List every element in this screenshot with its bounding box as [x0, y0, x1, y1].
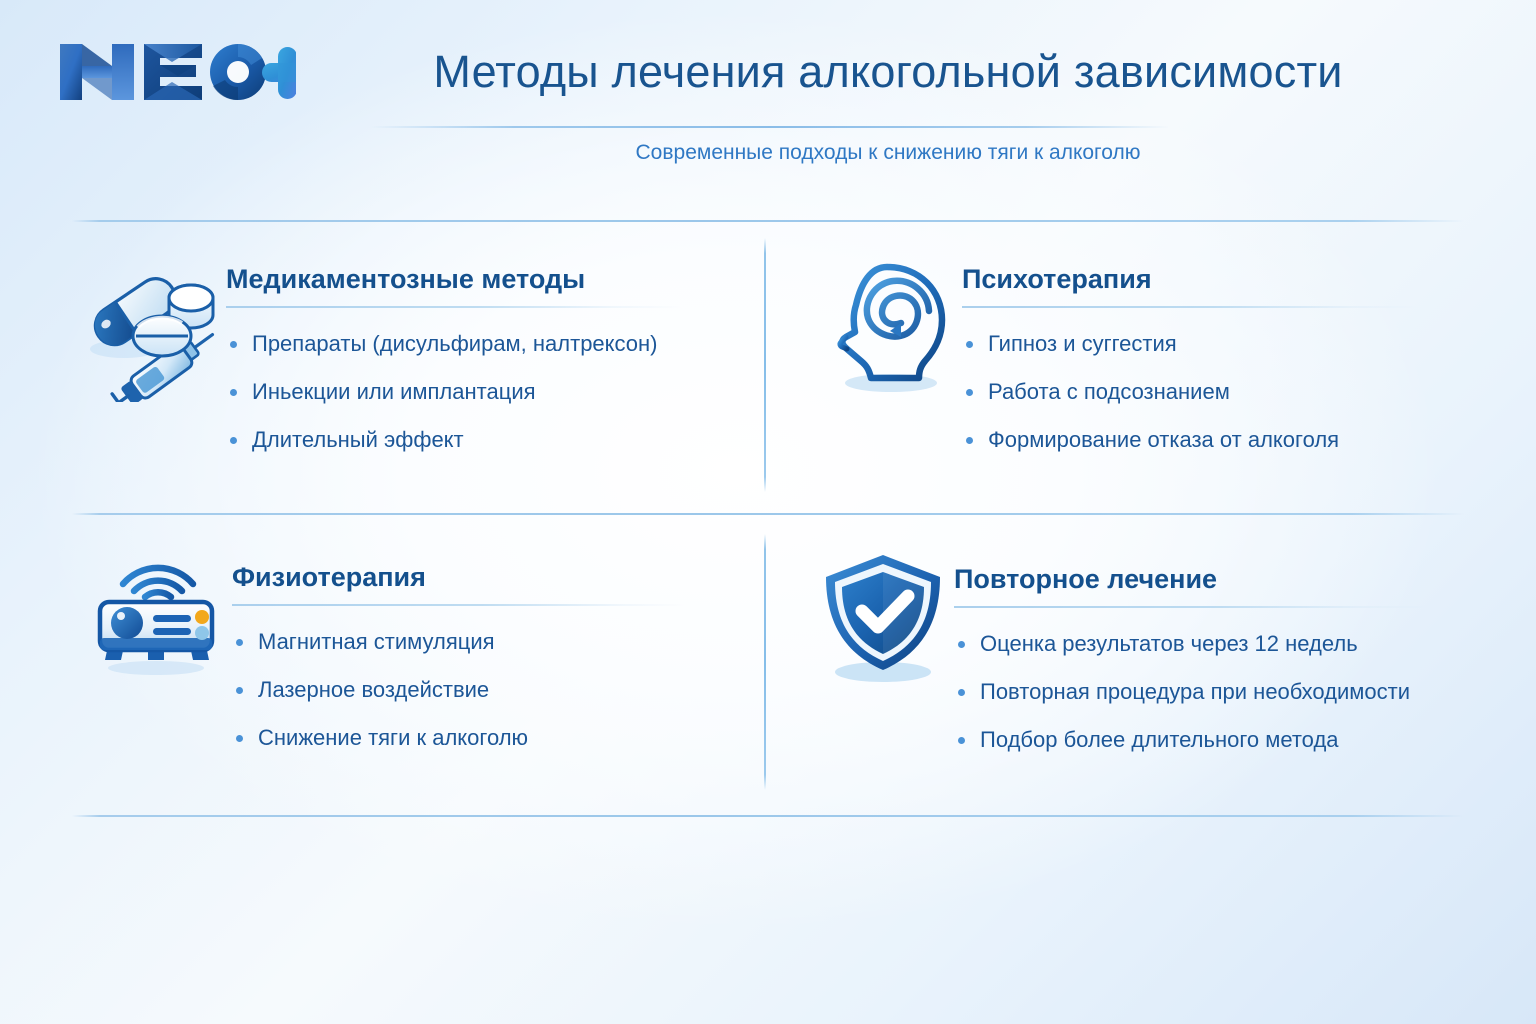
card-bullet-list: Магнитная стимуляция Лазерное воздействи…: [232, 606, 740, 752]
card-bullet-list: Гипноз и суггестия Работа с подсознанием…: [962, 308, 1472, 454]
card-title: Психотерапия: [962, 262, 1472, 296]
card-title: Физиотерапия: [232, 560, 740, 594]
card-title: Повторное лечение: [954, 562, 1492, 596]
head-hypnosis-spiral-icon: [812, 252, 962, 402]
card-bullet-list: Оценка результатов через 12 недель Повто…: [954, 608, 1492, 754]
shield-checkmark-icon: [812, 546, 954, 686]
method-card-repeat-treatment: Повторное лечение Оценка результатов чер…: [812, 542, 1492, 754]
list-item: Препараты (дисульфирам, налтрексон): [226, 330, 736, 358]
list-item: Работа с подсознанием: [962, 378, 1472, 406]
list-item: Гипноз и суггестия: [962, 330, 1472, 358]
infographic-poster: Методы лечения алкогольной зависимости С…: [0, 0, 1536, 1024]
list-item: Повторная процедура при необходимости: [954, 678, 1492, 706]
method-card-psychotherapy: Психотерапия Гипноз и суггестия Работа с…: [812, 248, 1472, 454]
method-card-physiotherapy: Физиотерапия Магнитная стимуляция Лазерн…: [80, 542, 740, 752]
list-item: Иньекции или имплантация: [226, 378, 736, 406]
card-body: Повторное лечение Оценка результатов чер…: [954, 542, 1492, 754]
card-bullet-list: Препараты (дисульфирам, налтрексон) Инье…: [226, 308, 736, 454]
list-item: Формирование отказа от алкоголя: [962, 426, 1472, 454]
list-item: Снижение тяги к алкоголю: [232, 724, 740, 752]
list-item: Подбор более длительного метода: [954, 726, 1492, 754]
card-body: Психотерапия Гипноз и суггестия Работа с…: [962, 248, 1472, 454]
list-item: Лазерное воздействие: [232, 676, 740, 704]
card-title: Медикаментозные методы: [226, 262, 736, 296]
list-item: Магнитная стимуляция: [232, 628, 740, 656]
method-card-medication: Медикаментозные методы Препараты (дисуль…: [76, 248, 736, 454]
methods-grid: Медикаментозные методы Препараты (дисуль…: [0, 0, 1536, 1024]
pills-syringe-icon: [76, 252, 226, 402]
card-body: Медикаментозные методы Препараты (дисуль…: [226, 248, 736, 454]
list-item: Оценка результатов через 12 недель: [954, 630, 1492, 658]
card-body: Физиотерапия Магнитная стимуляция Лазерн…: [232, 542, 740, 752]
physiotherapy-device-icon: [80, 546, 232, 676]
list-item: Длительный эффект: [226, 426, 736, 454]
